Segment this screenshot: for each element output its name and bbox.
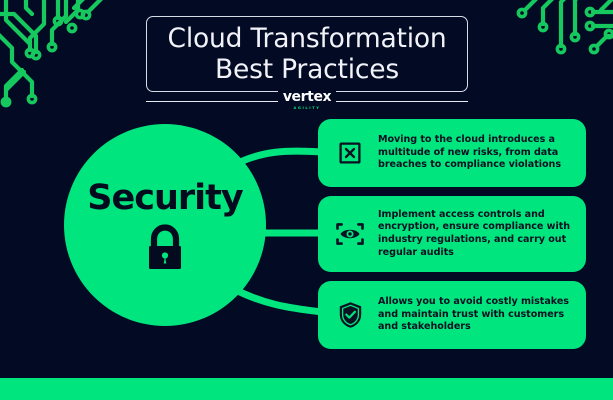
info-card[interactable]: Implement access controls and encryption… [318,196,586,272]
info-card-text: Moving to the cloud introduces a multitu… [378,134,574,172]
central-hub-security[interactable]: Security [64,124,266,326]
info-card[interactable]: Allows you to avoid costly mistakes and … [318,281,586,349]
page-title-line-1: Cloud Transformation [168,23,447,54]
info-card-text: Implement access controls and encryption… [378,209,574,259]
logo-mark: vertex AGILITY [278,91,336,111]
logo-tagline: AGILITY [294,105,321,111]
face-scan-eye-icon [332,216,368,252]
connector-to-card-3 [232,288,322,312]
logo-wordmark: vertex [283,91,331,104]
info-card-text: Allows you to avoid costly mistakes and … [378,296,574,334]
logo-rule-right [336,101,468,102]
footer-accent-bar [0,378,613,400]
infographic-canvas: Cloud Transformation Best Practices vert… [0,0,613,400]
x-square-icon [332,135,368,171]
page-title-line-2: Best Practices [215,54,399,85]
info-card[interactable]: Moving to the cloud introduces a multitu… [318,119,586,187]
logo-rule-left [146,101,278,102]
padlock-icon [143,224,187,272]
title-box: Cloud Transformation Best Practices [146,16,468,92]
shield-check-icon [332,297,368,333]
hub-label: Security [87,179,242,217]
brand-logo-lockup: vertex AGILITY [146,90,468,112]
